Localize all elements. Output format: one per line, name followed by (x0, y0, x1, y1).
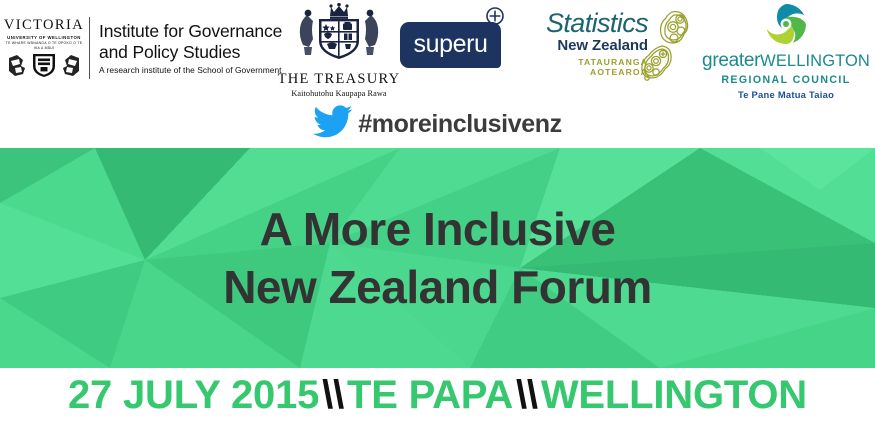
statistics-text: Statistics New Zealand TATAURANGA AOTEAR… (520, 10, 648, 77)
victoria-shield-icon (7, 52, 81, 78)
banner-title: A More Inclusive New Zealand Forum (0, 148, 875, 368)
gw-maori-name: Te Pane Matua Taiao (700, 89, 872, 100)
treasury-maori-name: Kaitohutohu Kaupapa Rawa (291, 89, 386, 98)
social-hashtag-row: #moreinclusivenz (0, 100, 875, 148)
nz-coat-of-arms-icon (287, 3, 391, 70)
event-date: 27 JULY 2015 (68, 373, 319, 417)
victoria-wordmark: VICTORIA (4, 18, 84, 33)
treasury-wordmark: THE TREASURY (278, 71, 401, 88)
superu-badge: superu (400, 22, 501, 68)
nz-map-circles-icon (640, 6, 692, 103)
separator-2: \\ (513, 373, 541, 417)
logo-bar: VICTORIA UNIVERSITY OF WELLINGTON TE WHA… (0, 0, 875, 100)
greater-wellington-wordmark: greaterWELLINGTON (700, 51, 872, 71)
victoria-subtitle: UNIVERSITY OF WELLINGTON (7, 35, 81, 40)
event-city: WELLINGTON (541, 373, 807, 417)
statistics-maori-name: TATAURANGA AOTEAROA (520, 57, 648, 77)
statistics-newzealand: New Zealand (520, 38, 648, 55)
koru-swirl-icon (700, 3, 872, 50)
event-details-bar: 27 JULY 2015\\TE PAPA\\WELLINGTON (0, 368, 875, 421)
igps-tagline: A research institute of the School of Go… (99, 65, 282, 75)
banner-title-line-1: A More Inclusive (260, 200, 616, 258)
event-banner: A More Inclusive New Zealand Forum (0, 148, 875, 368)
logo-treasury: THE TREASURY Kaitohutohu Kaupapa Rawa (283, 2, 395, 94)
logo-greater-wellington: greaterWELLINGTON REGIONAL COUNCIL Te Pa… (700, 2, 872, 96)
gw-greater-text: greater (702, 50, 760, 71)
banner-title-line-2: New Zealand Forum (223, 258, 652, 316)
victoria-crest: VICTORIA UNIVERSITY OF WELLINGTON TE WHA… (4, 18, 84, 78)
logo-statistics-nz: Statistics New Zealand TATAURANGA AOTEAR… (520, 4, 695, 96)
igps-line-1: Institute for Governance (99, 21, 282, 42)
superu-wordmark: superu (413, 32, 487, 57)
separator-1: \\ (319, 373, 347, 417)
event-details-text: 27 JULY 2015\\TE PAPA\\WELLINGTON (68, 375, 807, 415)
logo-divider (89, 17, 90, 79)
logo-superu: superu (400, 6, 515, 68)
gw-wellington-text: WELLINGTON (760, 52, 870, 70)
logo-victoria-igps: VICTORIA UNIVERSITY OF WELLINGTON TE WHA… (4, 8, 286, 88)
gw-regional-council-text: REGIONAL COUNCIL (700, 74, 872, 86)
victoria-maori-subtitle: TE WHARE WĀNANGA O TE ŪPOKO O TE IKA A M… (4, 41, 84, 50)
twitter-bird-icon (313, 105, 353, 143)
statistics-wordmark: Statistics (520, 10, 648, 37)
hashtag-text: #moreinclusivenz (358, 110, 561, 139)
igps-text: Institute for Governance and Policy Stud… (99, 21, 282, 75)
igps-line-2: and Policy Studies (99, 42, 282, 63)
event-venue: TE PAPA (347, 373, 513, 417)
